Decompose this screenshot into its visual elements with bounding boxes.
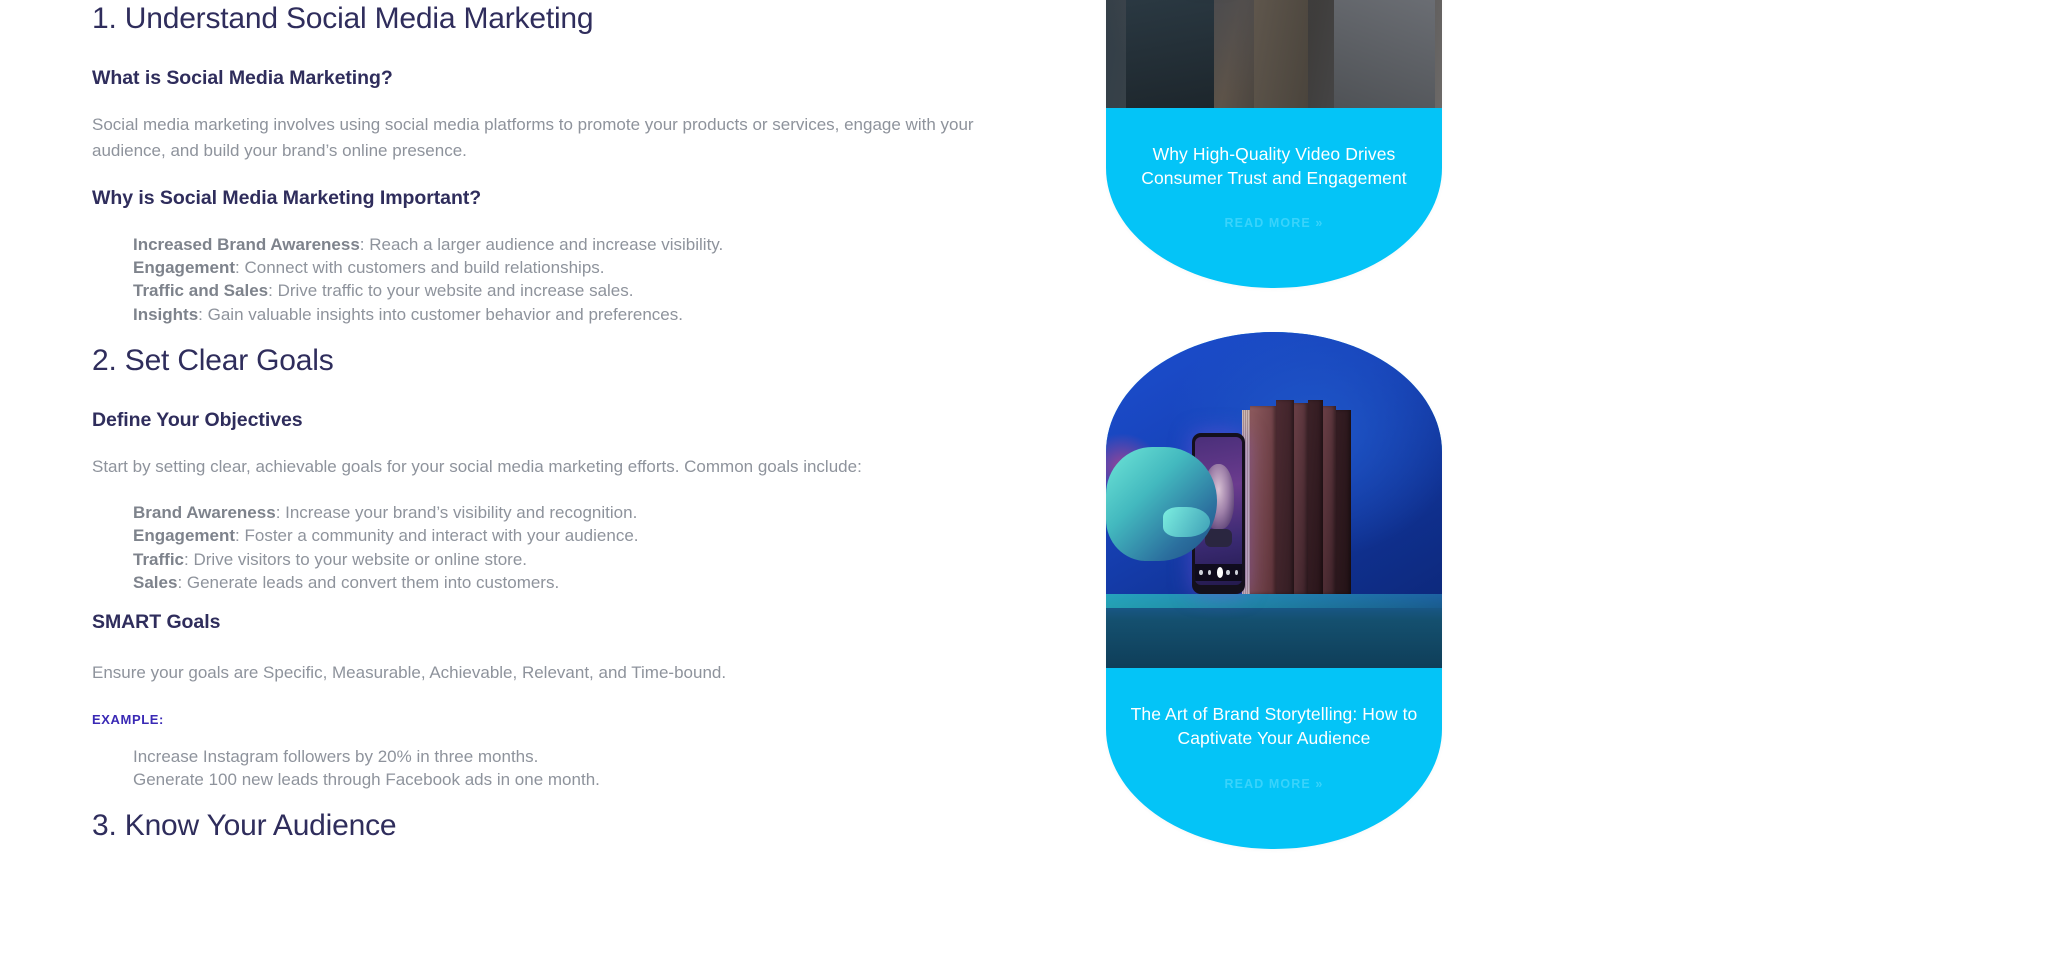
photo-desk-surface xyxy=(1106,594,1442,668)
spacer xyxy=(92,594,1052,610)
photo-indoor-filming xyxy=(1106,0,1442,108)
list-item: Brand Awareness: Increase your brand’s v… xyxy=(133,501,1052,524)
section-2-goal-list: Brand Awareness: Increase your brand’s v… xyxy=(92,501,1052,594)
list-item-text: : Drive traffic to your website and incr… xyxy=(268,281,633,300)
list-item-label: Traffic and Sales xyxy=(133,281,268,300)
list-item-label: Sales xyxy=(133,573,177,592)
spacer xyxy=(92,480,1052,501)
spacer xyxy=(92,791,1052,807)
spacer xyxy=(92,326,1052,342)
photo-doorway xyxy=(1254,0,1308,108)
section-2-subheading-smart-goals: SMART Goals xyxy=(92,610,1052,635)
list-item: Sales: Generate leads and convert them i… xyxy=(133,571,1052,594)
list-item-label: Increased Brand Awareness xyxy=(133,235,360,254)
photo-book xyxy=(1323,406,1336,594)
related-post-card[interactable]: Why High-Quality Video Drives Consumer T… xyxy=(1106,0,1442,288)
section-1-title: 1. Understand Social Media Marketing xyxy=(92,0,1052,38)
photo-navbar-icon xyxy=(1235,570,1238,575)
list-item: Increase Instagram followers by 20% in t… xyxy=(133,745,1052,768)
card-title: Why High-Quality Video Drives Consumer T… xyxy=(1130,142,1418,190)
list-item-label: Brand Awareness xyxy=(133,503,276,522)
photo-navbar-icon xyxy=(1199,570,1202,575)
list-item: Generate 100 new leads through Facebook … xyxy=(133,768,1052,791)
list-item-text: : Connect with customers and build relat… xyxy=(235,258,604,277)
list-item-label: Engagement xyxy=(133,258,235,277)
list-item-text: : Generate leads and convert them into c… xyxy=(177,573,559,592)
section-1-benefit-list: Increased Brand Awareness: Reach a large… xyxy=(92,233,1052,326)
photo-book xyxy=(1336,410,1351,595)
section-1-subheading-what-is: What is Social Media Marketing? xyxy=(92,66,1052,91)
photo-book xyxy=(1276,400,1294,595)
photo-figure-right xyxy=(1334,0,1435,108)
related-post-card[interactable]: The Art of Brand Storytelling: How to Ca… xyxy=(1106,332,1442,848)
spacer xyxy=(92,38,1052,66)
related-posts-sidebar: Why High-Quality Video Drives Consumer T… xyxy=(1106,0,1442,893)
list-item-text: : Increase your brand’s visibility and r… xyxy=(276,503,638,522)
list-item: Engagement: Connect with customers and b… xyxy=(133,256,1052,279)
section-3-title: 3. Know Your Audience xyxy=(92,807,1052,845)
example-label: EXAMPLE: xyxy=(92,712,1052,727)
card-body: The Art of Brand Storytelling: How to Ca… xyxy=(1106,668,1442,848)
list-item-text: : Foster a community and interact with y… xyxy=(235,526,638,545)
list-item-label: Traffic xyxy=(133,550,184,569)
section-2-paragraph: Start by setting clear, achievable goals… xyxy=(92,454,1022,480)
photo-navbar-add-icon xyxy=(1217,567,1224,578)
list-item: Increased Brand Awareness: Reach a large… xyxy=(133,233,1052,256)
section-1-paragraph: Social media marketing involves using so… xyxy=(92,112,1022,165)
card-body: Why High-Quality Video Drives Consumer T… xyxy=(1106,108,1442,288)
spacer xyxy=(92,212,1052,233)
list-item: Traffic: Drive visitors to your website … xyxy=(133,548,1052,571)
section-2-title: 2. Set Clear Goals xyxy=(92,342,1052,380)
card-image-video-trust xyxy=(1106,0,1442,108)
read-more-link[interactable]: READ MORE » xyxy=(1130,216,1418,230)
section-2-smart-paragraph: Ensure your goals are Specific, Measurab… xyxy=(92,660,1022,686)
article-page: 1. Understand Social Media Marketing Wha… xyxy=(0,0,2048,980)
list-item-text: : Reach a larger audience and increase v… xyxy=(360,235,724,254)
photo-phone-books-neon xyxy=(1106,332,1442,668)
spacer xyxy=(92,164,1052,186)
spacer xyxy=(92,635,1052,660)
spacer xyxy=(92,380,1052,408)
section-1-subheading-why-important: Why is Social Media Marketing Important? xyxy=(92,186,1052,211)
photo-screen-controller xyxy=(1205,529,1232,547)
photo-navbar-icon xyxy=(1208,570,1211,575)
list-item: Insights: Gain valuable insights into cu… xyxy=(133,303,1052,326)
spacer xyxy=(92,727,1052,745)
photo-book xyxy=(1308,400,1323,595)
list-item-text: : Gain valuable insights into customer b… xyxy=(198,305,683,324)
spacer xyxy=(92,92,1052,112)
photo-book xyxy=(1294,403,1307,595)
list-item-label: Insights xyxy=(133,305,198,324)
list-item: Engagement: Foster a community and inter… xyxy=(133,524,1052,547)
photo-book xyxy=(1250,406,1275,594)
card-image-brand-storytelling xyxy=(1106,332,1442,668)
list-item-text: : Drive visitors to your website or onli… xyxy=(184,550,527,569)
section-2-example-list: Increase Instagram followers by 20% in t… xyxy=(92,745,1052,792)
photo-navbar-icon xyxy=(1226,570,1229,575)
spacer xyxy=(92,434,1052,454)
spacer xyxy=(92,687,1052,712)
card-title: The Art of Brand Storytelling: How to Ca… xyxy=(1130,702,1418,750)
photo-figure-left xyxy=(1126,0,1213,108)
article-content: 1. Understand Social Media Marketing Wha… xyxy=(92,0,1052,846)
section-2-subheading-define-objectives: Define Your Objectives xyxy=(92,408,1052,433)
read-more-link[interactable]: READ MORE » xyxy=(1130,777,1418,791)
list-item: Traffic and Sales: Drive traffic to your… xyxy=(133,279,1052,302)
photo-screen-navbar xyxy=(1195,564,1243,582)
list-item-label: Engagement xyxy=(133,526,235,545)
